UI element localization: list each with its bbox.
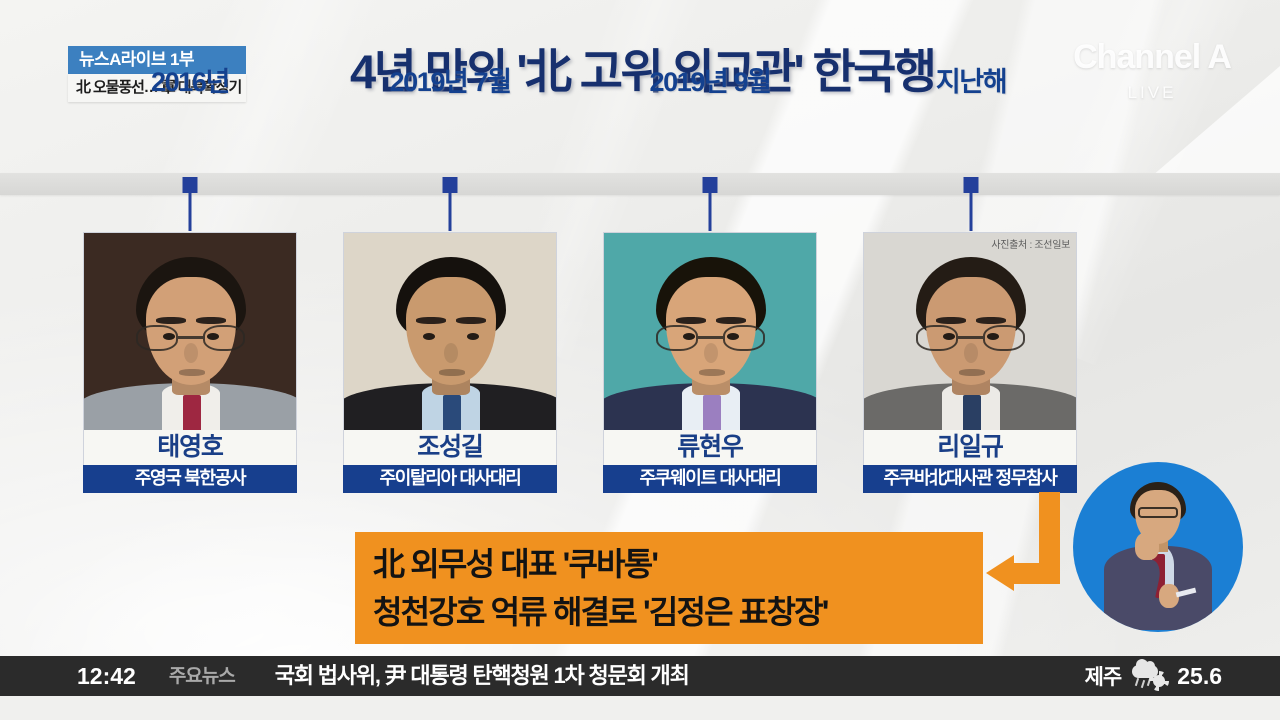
timeline-marker-icon	[964, 177, 979, 193]
person-name: 태영호	[84, 434, 296, 460]
timeline-date-label: 지난해	[936, 69, 1006, 96]
photo-credit: 사진출처 : 조선일보	[991, 236, 1070, 251]
ticker-bottom-strip	[0, 696, 1280, 720]
portrait-illustration	[864, 233, 1076, 430]
weather-widget: 제주 25.6	[1085, 661, 1222, 691]
ticker-headline: 국회 법사위, 尹 대통령 탄핵청원 1차 청문회 개최	[275, 665, 689, 687]
weather-city: 제주	[1085, 661, 1122, 691]
timeline-date-label: 2019년 9월	[649, 69, 770, 96]
person-photo	[603, 232, 817, 430]
timeline-marker-icon	[703, 177, 718, 193]
person-role-plate: 주쿠웨이트 대사대리	[603, 465, 817, 493]
portrait-illustration	[344, 233, 556, 430]
news-ticker: 12:42 주요뉴스 국회 법사위, 尹 대통령 탄핵청원 1차 청문회 개최 …	[0, 656, 1280, 696]
broadcast-screen: 뉴스A라이브 1부 北 오물풍선… 軍 대북확성기 4년 만의 '北 고위 외교…	[0, 0, 1280, 720]
person-card: 사진출처 : 조선일보리일규주쿠바北대사관 정무참사	[863, 232, 1077, 493]
weather-temperature: 25.6	[1177, 663, 1222, 690]
person-name: 조성길	[344, 434, 556, 460]
person-role-plate: 주영국 북한공사	[83, 465, 297, 493]
timeline-stem	[449, 193, 452, 231]
timeline-date-label: 2019년 7월	[389, 69, 510, 96]
person-card: 류현우주쿠웨이트 대사대리	[603, 232, 817, 493]
person-photo	[83, 232, 297, 430]
person-name-plate: 리일규	[863, 430, 1077, 465]
sign-language-interpreter	[1073, 462, 1243, 632]
person-role: 주이탈리아 대사대리	[343, 469, 557, 487]
portrait-illustration	[84, 233, 296, 430]
channel-logo: Channel A LIVE	[1062, 40, 1242, 103]
person-name-plate: 류현우	[603, 430, 817, 465]
portrait-illustration	[604, 233, 816, 430]
channel-name: Channel A	[1062, 40, 1242, 74]
person-name: 류현우	[604, 434, 816, 460]
live-indicator: LIVE	[1062, 83, 1242, 103]
person-card: 태영호주영국 북한공사	[83, 232, 297, 493]
callout-box: 北 외무성 대표 '쿠바통' 청천강호 억류 해결로 '김정은 표창장'	[355, 532, 983, 644]
person-name-plate: 태영호	[83, 430, 297, 465]
timeline-stem	[709, 193, 712, 231]
person-name: 리일규	[864, 434, 1076, 460]
timeline-marker-icon	[183, 177, 198, 193]
timeline-stem	[189, 193, 192, 231]
timeline-stem	[970, 193, 973, 231]
ticker-category-label: 주요뉴스	[169, 667, 235, 686]
person-photo	[343, 232, 557, 430]
person-name-plate: 조성길	[343, 430, 557, 465]
callout-line-2: 청천강호 억류 해결로 '김정은 표창장'	[373, 588, 983, 636]
timeline-date-label: 2016년	[151, 69, 229, 96]
person-card: 조성길주이탈리아 대사대리	[343, 232, 557, 493]
ticker-clock: 12:42	[77, 665, 136, 688]
person-role: 주쿠바北대사관 정무참사	[863, 469, 1077, 487]
person-photo: 사진출처 : 조선일보	[863, 232, 1077, 430]
person-role-plate: 주이탈리아 대사대리	[343, 465, 557, 493]
person-role-plate: 주쿠바北대사관 정무참사	[863, 465, 1077, 493]
callout-line-1: 北 외무성 대표 '쿠바통'	[373, 540, 983, 588]
person-role: 주쿠웨이트 대사대리	[603, 469, 817, 487]
rain-sun-icon	[1132, 663, 1166, 689]
timeline-marker-icon	[443, 177, 458, 193]
person-role: 주영국 북한공사	[83, 469, 297, 487]
interpreter-glasses-icon	[1138, 507, 1178, 518]
